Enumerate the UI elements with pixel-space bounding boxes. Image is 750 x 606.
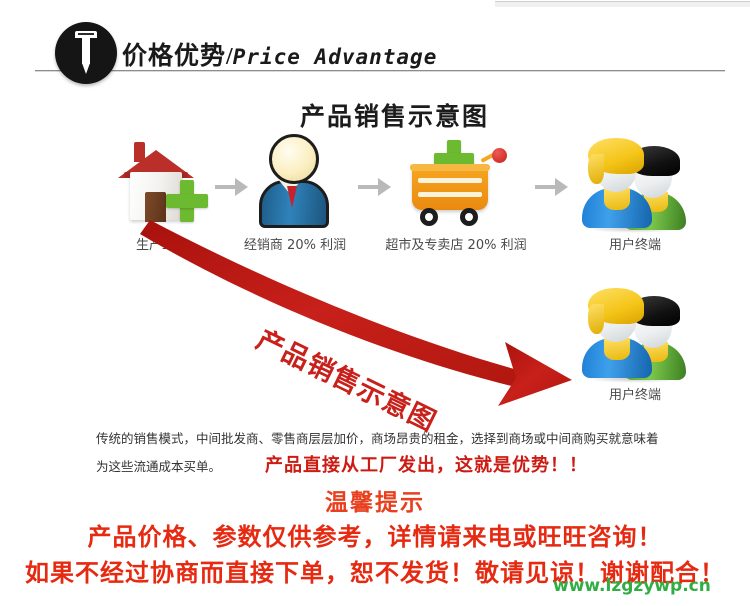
right-arrow-icon: [215, 178, 249, 196]
page-title-cn: 价格优势: [122, 41, 226, 70]
end-user-group-icon: [580, 132, 690, 232]
right-arrow-icon: [535, 178, 569, 196]
page-title-en: Price Advantage: [233, 45, 438, 69]
chain-node-label: 用户终端: [609, 384, 661, 403]
title-separator: /: [226, 44, 233, 70]
site-watermark: www.lzgzywp.cn: [553, 576, 711, 596]
notice-title: 温馨提示: [0, 487, 750, 519]
paragraph-highlight: 产品直接从工厂发出，这就是优势！！: [265, 455, 588, 476]
page-title: 价格优势/Price Advantage: [122, 36, 437, 72]
paragraph-line-2: 为这些流通成本买单。: [96, 459, 221, 474]
screw-icon: [55, 22, 117, 84]
dealer-person-icon: [253, 134, 337, 230]
chain-node-end-user-direct: 用户终端: [580, 280, 690, 410]
factory-house-icon: [112, 136, 212, 228]
notice-line-1: 产品价格、参数仅供参考，详情请来电或旺旺咨询！: [0, 519, 750, 555]
price-advantage-banner: 价格优势/Price Advantage 产品销售示意图 生产工厂: [0, 0, 750, 606]
end-user-group-icon: [580, 282, 690, 382]
explanation-paragraph: 传统的销售模式，中间批发商、零售商层层加价，商场昂贵的租金，选择到商场或中间商购…: [96, 425, 696, 480]
supermarket-cart-icon: [404, 136, 508, 230]
top-line-fragment: [495, 1, 750, 7]
diagram-title: 产品销售示意图: [300, 97, 489, 133]
right-arrow-icon: [358, 178, 392, 196]
paragraph-line-1: 传统的销售模式，中间批发商、零售商层层加价，商场昂贵的租金，选择到商场或中间商购…: [96, 425, 696, 452]
